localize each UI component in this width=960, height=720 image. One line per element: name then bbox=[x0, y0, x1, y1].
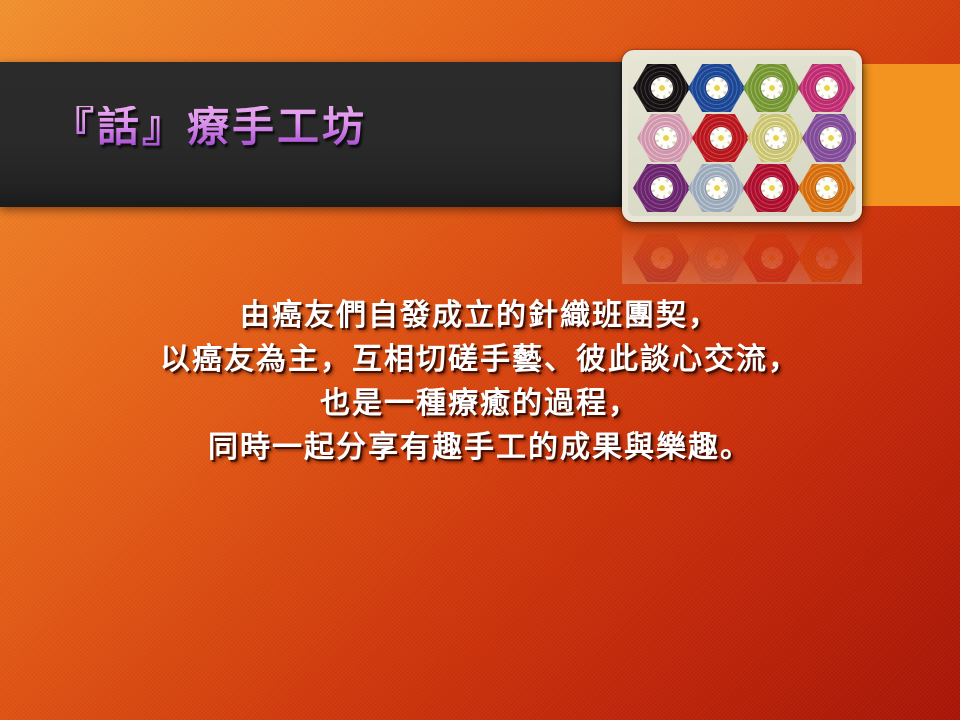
body-line-4: 同時一起分享有趣手工的成果與樂趣。 bbox=[0, 426, 960, 470]
body-paragraph: 由癌友們自發成立的針織班團契， 以癌友為主，互相切磋手藝、彼此談心交流， 也是一… bbox=[0, 294, 960, 470]
black-hexagon bbox=[633, 63, 690, 113]
daisy-flower-icon bbox=[710, 127, 732, 149]
daisy-flower-icon bbox=[706, 247, 728, 269]
crimson-hexagon bbox=[743, 163, 800, 213]
daisy-flower-icon bbox=[655, 127, 677, 149]
daisy-flower-icon bbox=[706, 77, 728, 99]
orange-hexagon bbox=[798, 233, 855, 283]
daisy-flower-icon bbox=[651, 177, 673, 199]
daisy-flower-icon bbox=[820, 127, 842, 149]
daisy-flower-icon bbox=[816, 77, 838, 99]
daisy-flower-icon bbox=[761, 177, 783, 199]
daisy-flower-icon bbox=[706, 177, 728, 199]
daisy-flower-icon bbox=[816, 177, 838, 199]
dark-purple-hexagon bbox=[633, 163, 690, 213]
crochet-stitch-texture bbox=[798, 233, 855, 283]
crochet-stitch-texture bbox=[688, 233, 745, 283]
slide-canvas: 『話』療手工坊 由癌友們自發成立的針織班團契， 以癌友為主，互相切磋手藝、彼此談… bbox=[0, 0, 960, 720]
photo-tray bbox=[628, 56, 856, 216]
daisy-flower-icon bbox=[651, 77, 673, 99]
body-line-3: 也是一種療癒的過程， bbox=[0, 382, 960, 426]
daisy-flower-icon bbox=[651, 247, 673, 269]
crochet-stitch-texture bbox=[743, 233, 800, 283]
body-line-1: 由癌友們自發成立的針織班團契， bbox=[0, 294, 960, 338]
green-hexagon bbox=[743, 63, 800, 113]
hexagon-grid bbox=[631, 59, 853, 213]
crochet-photo bbox=[622, 50, 862, 222]
daisy-flower-icon bbox=[761, 77, 783, 99]
daisy-flower-icon bbox=[761, 247, 783, 269]
light-blue-hexagon bbox=[688, 233, 745, 283]
red-hexagon bbox=[692, 113, 749, 163]
blue-hexagon bbox=[688, 63, 745, 113]
orange-hexagon bbox=[798, 163, 855, 213]
pale-yellow-hexagon bbox=[747, 113, 804, 163]
daisy-flower-icon bbox=[816, 247, 838, 269]
crochet-stitch-texture bbox=[633, 233, 690, 283]
light-pink-hexagon bbox=[637, 113, 694, 163]
purple-hexagon bbox=[802, 113, 856, 163]
crimson-hexagon bbox=[743, 233, 800, 283]
crochet-photo-reflection bbox=[622, 224, 862, 284]
light-blue-hexagon bbox=[688, 163, 745, 213]
daisy-flower-icon bbox=[765, 127, 787, 149]
photo-frame bbox=[622, 50, 862, 222]
body-line-2: 以癌友為主，互相切磋手藝、彼此談心交流， bbox=[0, 338, 960, 382]
accent-panel bbox=[860, 64, 960, 206]
pink-hexagon bbox=[798, 63, 855, 113]
page-title: 『話』療手工坊 bbox=[52, 106, 367, 148]
dark-purple-hexagon bbox=[633, 233, 690, 283]
